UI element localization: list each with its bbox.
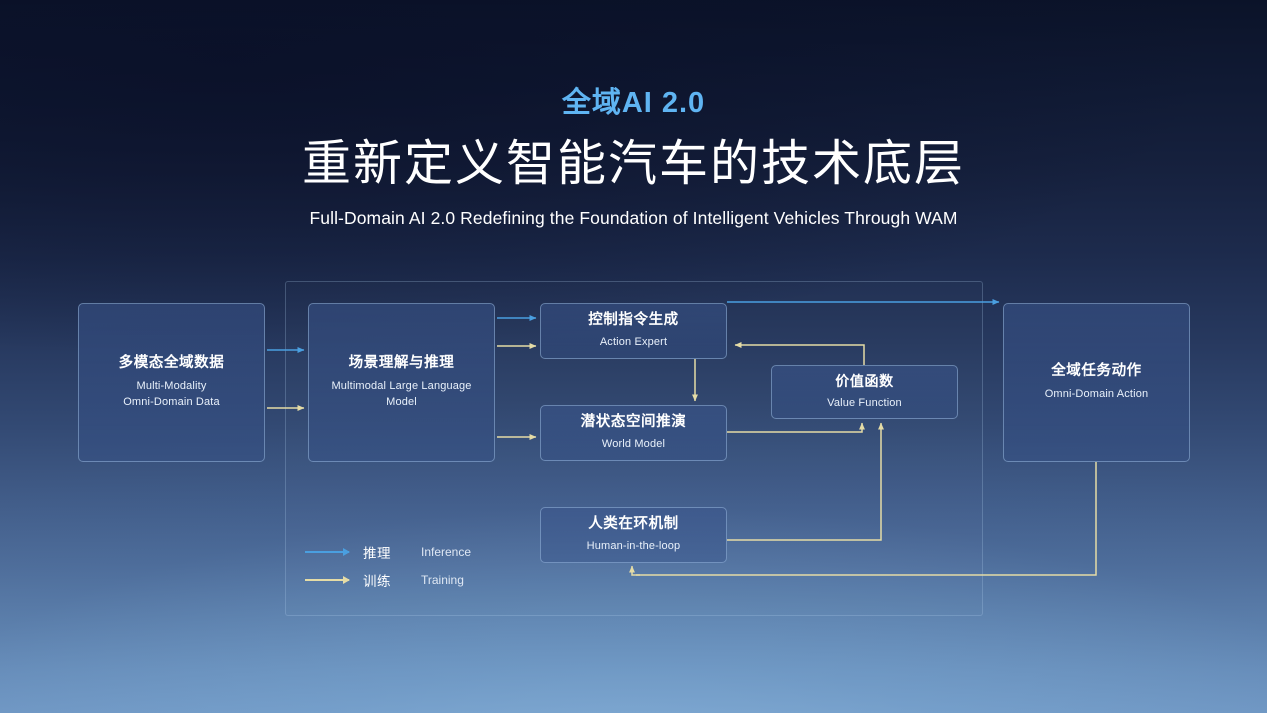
legend-label-en: Inference bbox=[421, 545, 471, 559]
node-title-en: Human-in-the-loop bbox=[587, 539, 681, 555]
node-human-in-the-loop[interactable]: 人类在环机制 Human-in-the-loop bbox=[540, 507, 727, 563]
node-action-expert[interactable]: 控制指令生成 Action Expert bbox=[540, 303, 727, 359]
page-title: 重新定义智能汽车的技术底层 bbox=[0, 136, 1267, 192]
node-title-cn: 人类在环机制 bbox=[588, 515, 679, 534]
edge-omni-to-human-arrowhead bbox=[632, 566, 640, 575]
slide-root: 全域AI 2.0 重新定义智能汽车的技术底层 Full-Domain AI 2.… bbox=[0, 0, 1267, 713]
diagram-legend: 推理 Inference 训练 Training bbox=[305, 538, 471, 594]
node-title-en: World Model bbox=[602, 437, 665, 453]
node-multimodal-llm[interactable]: 场景理解与推理 Multimodal Large Language Model bbox=[308, 303, 495, 462]
node-title-cn: 全域任务动作 bbox=[1051, 362, 1142, 381]
node-title-cn: 价值函数 bbox=[835, 372, 893, 390]
slide-header: 全域AI 2.0 重新定义智能汽车的技术底层 Full-Domain AI 2.… bbox=[0, 88, 1267, 229]
node-title-cn: 场景理解与推理 bbox=[349, 354, 455, 373]
node-multi-modality-data[interactable]: 多模态全域数据 Multi-Modality Omni-Domain Data bbox=[78, 303, 265, 462]
node-title-en: Value Function bbox=[827, 396, 902, 412]
node-title-en: Multimodal Large Language Model bbox=[331, 379, 471, 411]
edge-world-to-value-training bbox=[727, 423, 862, 432]
legend-item-training: 训练 Training bbox=[305, 566, 471, 594]
edge-value-to-action-training bbox=[735, 345, 864, 365]
node-title-cn: 控制指令生成 bbox=[588, 311, 679, 330]
node-title-cn: 潜状态空间推演 bbox=[581, 413, 687, 432]
edge-human-to-value-training bbox=[727, 423, 881, 540]
legend-label-cn: 推理 bbox=[363, 542, 409, 562]
node-world-model[interactable]: 潜状态空间推演 World Model bbox=[540, 405, 727, 461]
subtitle: Full-Domain AI 2.0 Redefining the Founda… bbox=[0, 208, 1267, 229]
eyebrow-title: 全域AI 2.0 bbox=[0, 88, 1267, 120]
inference-arrow-icon bbox=[305, 551, 349, 553]
legend-label-en: Training bbox=[421, 573, 464, 587]
legend-item-inference: 推理 Inference bbox=[305, 538, 471, 566]
training-arrow-icon bbox=[305, 579, 349, 581]
node-title-en: Multi-Modality Omni-Domain Data bbox=[123, 379, 220, 411]
node-title-cn: 多模态全域数据 bbox=[119, 354, 225, 373]
node-title-en: Omni-Domain Action bbox=[1045, 387, 1149, 403]
legend-label-cn: 训练 bbox=[363, 570, 409, 590]
node-value-function[interactable]: 价值函数 Value Function bbox=[771, 365, 958, 419]
node-title-en: Action Expert bbox=[600, 335, 667, 351]
node-omni-domain-action[interactable]: 全域任务动作 Omni-Domain Action bbox=[1003, 303, 1190, 462]
